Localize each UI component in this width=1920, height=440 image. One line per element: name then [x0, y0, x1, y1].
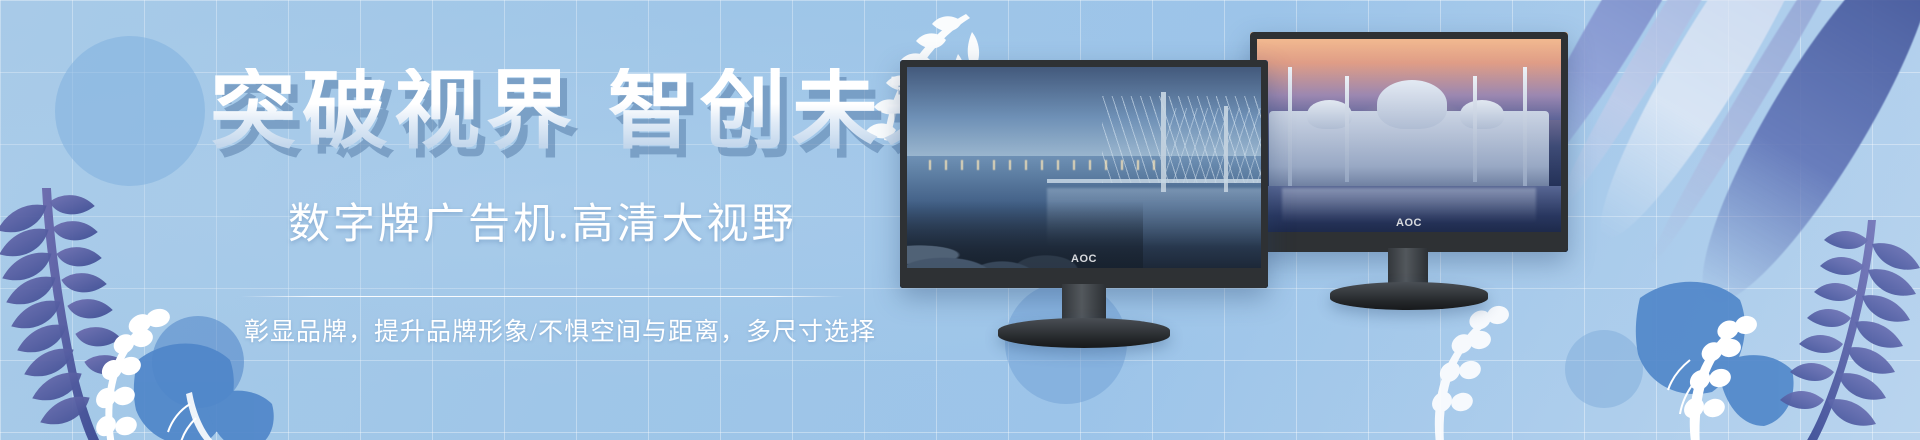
- headline: 突破视界 智创未来: [210, 68, 976, 154]
- promotional-banner: 突破视界 智创未来 数字牌广告机.高清大视野 彰显品牌，提升品牌形象/不惧空间与…: [0, 0, 1920, 440]
- suspension-bridge-photo: [900, 60, 1268, 288]
- monitor-screen: AOC: [1250, 32, 1568, 252]
- subtitle: 数字牌广告机.高清大视野: [288, 190, 797, 251]
- monitor-screen: AOC: [900, 60, 1268, 288]
- tagline: 彰显品牌，提升品牌形象/不惧空间与距离，多尺寸选择: [244, 312, 876, 348]
- product-image-group: AOC: [880, 0, 1920, 440]
- monitor-stand-base: [1330, 282, 1488, 310]
- copy-block: 突破视界 智创未来 数字牌广告机.高清大视野 彰显品牌，提升品牌形象/不惧空间与…: [0, 0, 960, 440]
- mosque-at-dusk-photo: [1250, 32, 1568, 252]
- monitor-stand-base: [998, 318, 1170, 348]
- divider: [240, 296, 844, 297]
